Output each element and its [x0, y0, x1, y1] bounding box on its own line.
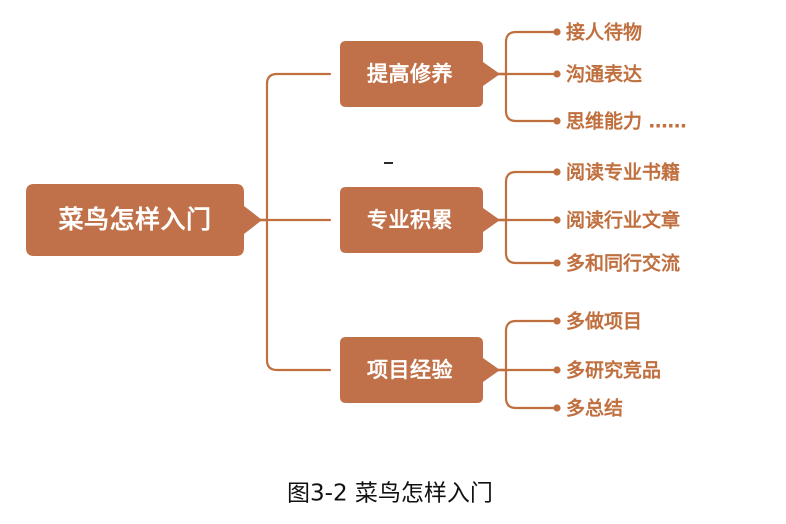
leaf-label-2-3[interactable]: 多和同行交流 [566, 252, 680, 275]
leaf-dot-3-1 [553, 317, 560, 324]
branch-3-to-leaf-1 [497, 321, 556, 370]
branch-node-3-label: 项目经验 [367, 358, 453, 382]
root-connector-group [258, 74, 330, 370]
branch-1-to-leaf-3 [497, 74, 556, 121]
branch-node-3[interactable]: 项目经验 [340, 337, 500, 403]
branch-3-to-leaf-3 [497, 370, 556, 408]
root-node[interactable]: 菜鸟怎样入门 [26, 184, 262, 256]
leaf-label-3-1[interactable]: 多做项目 [566, 310, 642, 333]
leaf-dot-2-1 [553, 168, 560, 175]
figure-caption: 图3-2 菜鸟怎样入门 [287, 481, 493, 507]
leaf-label-3-2[interactable]: 多研究竞品 [566, 359, 661, 382]
leaf-dot-2-3 [553, 259, 560, 266]
branch-1-to-leaf-1 [497, 32, 556, 74]
branch-connector-group-2 [497, 168, 561, 266]
branch-node-1[interactable]: 提高修养 [340, 41, 500, 107]
branch-2-to-leaf-3 [497, 220, 556, 263]
branch-connector-group-3 [497, 317, 561, 411]
leaf-label-2-1[interactable]: 阅读专业书籍 [566, 161, 680, 184]
leaf-dot-3-3 [553, 404, 560, 411]
root-node-label: 菜鸟怎样入门 [57, 205, 211, 234]
branch-node-2[interactable]: 专业积累 [340, 187, 500, 253]
leaf-label-1-2[interactable]: 沟通表达 [566, 63, 642, 86]
leaf-label-1-1[interactable]: 接人待物 [566, 21, 642, 44]
branch-node-2-label: 专业积累 [367, 208, 453, 232]
leaf-dot-1-3 [553, 117, 560, 124]
leaf-dot-3-2 [553, 366, 560, 373]
diagram-canvas: 菜鸟怎样入门 提高修养 接人待物 沟通表达 思维能力 …… [0, 0, 786, 524]
leaf-label-3-3[interactable]: 多总结 [566, 397, 623, 420]
root-spine-to-branch-1 [258, 74, 330, 220]
leaf-dot-2-2 [553, 216, 560, 223]
leaf-dot-1-1 [553, 28, 560, 35]
leaf-dot-1-2 [553, 70, 560, 77]
branch-2-to-leaf-1 [497, 172, 556, 220]
branch-connector-group-1 [497, 28, 561, 124]
leaf-label-2-2[interactable]: 阅读行业文章 [566, 209, 680, 232]
branch-node-1-label: 提高修养 [367, 62, 453, 86]
mindmap-svg: 菜鸟怎样入门 提高修养 接人待物 沟通表达 思维能力 …… [0, 0, 786, 524]
root-spine-to-branch-3 [258, 220, 330, 370]
leaf-label-1-3[interactable]: 思维能力 …… [566, 110, 687, 133]
